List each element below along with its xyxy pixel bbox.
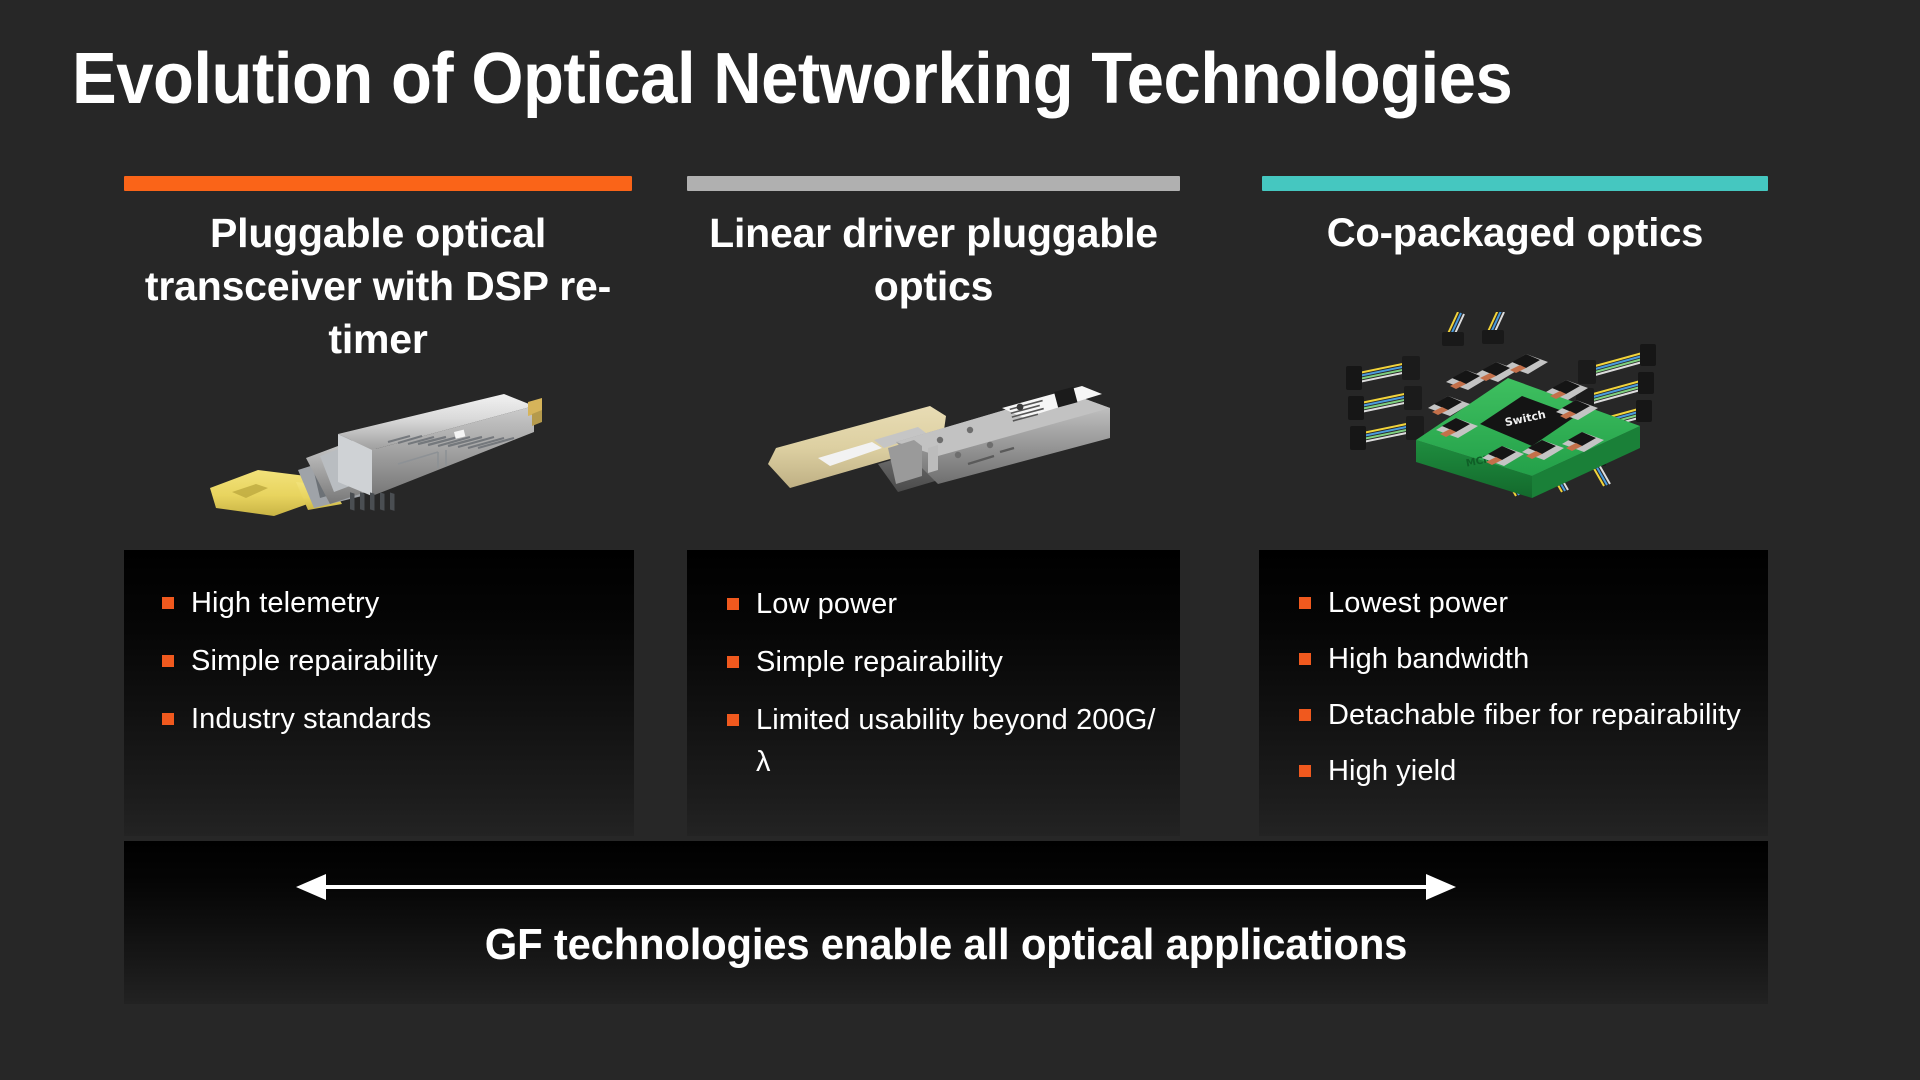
column-linear-driver: Linear driver pluggable optics — [687, 176, 1180, 313]
bullet-square-icon — [162, 713, 174, 725]
bullet-list-pluggable-dsp: High telemetry Simple repairability Indu… — [124, 550, 634, 740]
summary-banner: GF technologies enable all optical appli… — [124, 841, 1768, 1004]
bullet-text: High telemetry — [191, 582, 610, 624]
list-item: Simple repairability — [727, 641, 1156, 683]
list-item: Low power — [727, 583, 1156, 625]
bullet-square-icon — [162, 655, 174, 667]
bullet-text: Lowest power — [1328, 582, 1744, 624]
slide-root: Evolution of Optical Networking Technolo… — [0, 0, 1920, 1080]
accent-bar-teal — [1262, 176, 1768, 191]
bullet-square-icon — [1299, 653, 1311, 665]
co-packaged-optics-render: Switch MCM — [1340, 312, 1670, 517]
bullet-square-icon — [1299, 597, 1311, 609]
list-item: High bandwidth — [1299, 638, 1744, 680]
column-heading-pluggable-dsp: Pluggable optical transceiver with DSP r… — [124, 207, 632, 366]
page-title: Evolution of Optical Networking Technolo… — [72, 38, 1727, 120]
linear-driver-module-photo — [762, 372, 1117, 517]
double-headed-horizontal-arrow-icon — [296, 870, 1456, 904]
bullet-text: High bandwidth — [1328, 638, 1744, 680]
list-item: Lowest power — [1299, 582, 1744, 624]
bullet-text: High yield — [1328, 750, 1744, 792]
list-item: High telemetry — [162, 582, 610, 624]
accent-bar-gray — [687, 176, 1180, 191]
accent-bar-orange — [124, 176, 632, 191]
bullet-text: Simple repairability — [756, 641, 1156, 683]
column-heading-linear-driver: Linear driver pluggable optics — [687, 207, 1180, 313]
bullet-text: Detachable fiber for repairability — [1328, 694, 1744, 736]
summary-banner-text: GF technologies enable all optical appli… — [165, 919, 1727, 971]
column-heading-co-packaged-optics: Co-packaged optics — [1262, 207, 1768, 260]
bullet-list-linear-driver: Low power Simple repairability Limited u… — [687, 550, 1180, 783]
list-item: Industry standards — [162, 698, 610, 740]
qsfp-dd-transceiver-photo — [202, 392, 542, 537]
bullet-panel-pluggable-dsp: High telemetry Simple repairability Indu… — [124, 550, 634, 836]
bullet-panel-linear-driver: Low power Simple repairability Limited u… — [687, 550, 1180, 836]
list-item: Simple repairability — [162, 640, 610, 682]
bullet-text: Simple repairability — [191, 640, 610, 682]
bullet-text: Low power — [756, 583, 1156, 625]
mcm-substrate-label: MCM — [1465, 454, 1494, 470]
bullet-text: Limited usability beyond 200G/λ — [756, 699, 1156, 783]
bullet-square-icon — [162, 597, 174, 609]
bullet-square-icon — [727, 598, 739, 610]
column-co-packaged-optics: Co-packaged optics — [1262, 176, 1768, 260]
bullet-square-icon — [1299, 765, 1311, 777]
switch-die-label: Switch — [1504, 408, 1547, 429]
bullet-square-icon — [727, 656, 739, 668]
column-pluggable-dsp: Pluggable optical transceiver with DSP r… — [124, 176, 632, 366]
bullet-square-icon — [727, 714, 739, 726]
bullet-text: Industry standards — [191, 698, 610, 740]
list-item: Limited usability beyond 200G/λ — [727, 699, 1156, 783]
list-item: High yield — [1299, 750, 1744, 792]
list-item: Detachable fiber for repairability — [1299, 694, 1744, 736]
bullet-panel-co-packaged-optics: Lowest power High bandwidth Detachable f… — [1259, 550, 1768, 836]
bullet-square-icon — [1299, 709, 1311, 721]
bullet-list-co-packaged-optics: Lowest power High bandwidth Detachable f… — [1259, 550, 1768, 792]
